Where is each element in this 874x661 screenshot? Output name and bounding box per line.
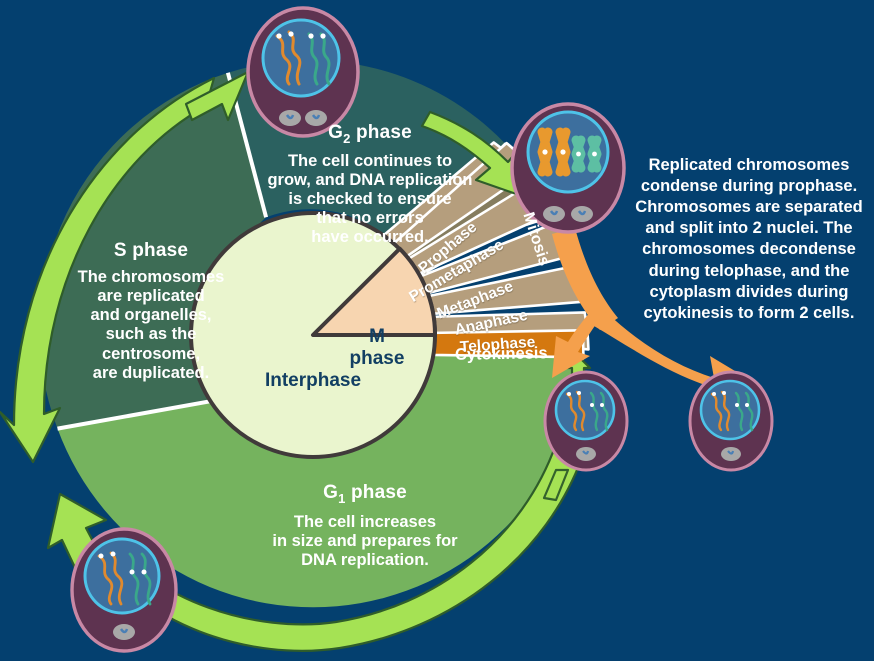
s-phase-body: The chromosomes are replicated and organ… [63,268,239,383]
g2-phase-block: G2 phase The cell continues to grow, and… [262,122,478,248]
side-note-block: Replicated chromosomes condense during p… [630,155,868,324]
g1-phase-title: G1 phase [243,482,487,506]
cytokinesis-label: Cytokinesis [455,344,548,365]
cell-g1 [72,529,176,651]
side-note-text: Replicated chromosomes condense during p… [630,155,868,324]
s-phase-block: S phase The chromosomes are replicated a… [63,240,239,383]
cell-daughter-2 [690,372,772,470]
g2-phase-title: G2 phase [262,122,478,146]
g1-phase-block: G1 phase The cell increases in size and … [243,482,487,570]
g2-phase-body: The cell continues to grow, and DNA repl… [262,152,478,248]
interphase-label: Interphase [213,370,413,392]
s-phase-title: S phase [63,240,239,262]
m-phase-label: M phase [338,326,416,370]
g1-phase-body: The cell increases in size and prepares … [243,513,487,570]
cell-cycle-figure: G2 phase The cell continues to grow, and… [0,0,874,661]
cell-daughter-1 [545,372,627,470]
cell-g2 [248,8,358,136]
